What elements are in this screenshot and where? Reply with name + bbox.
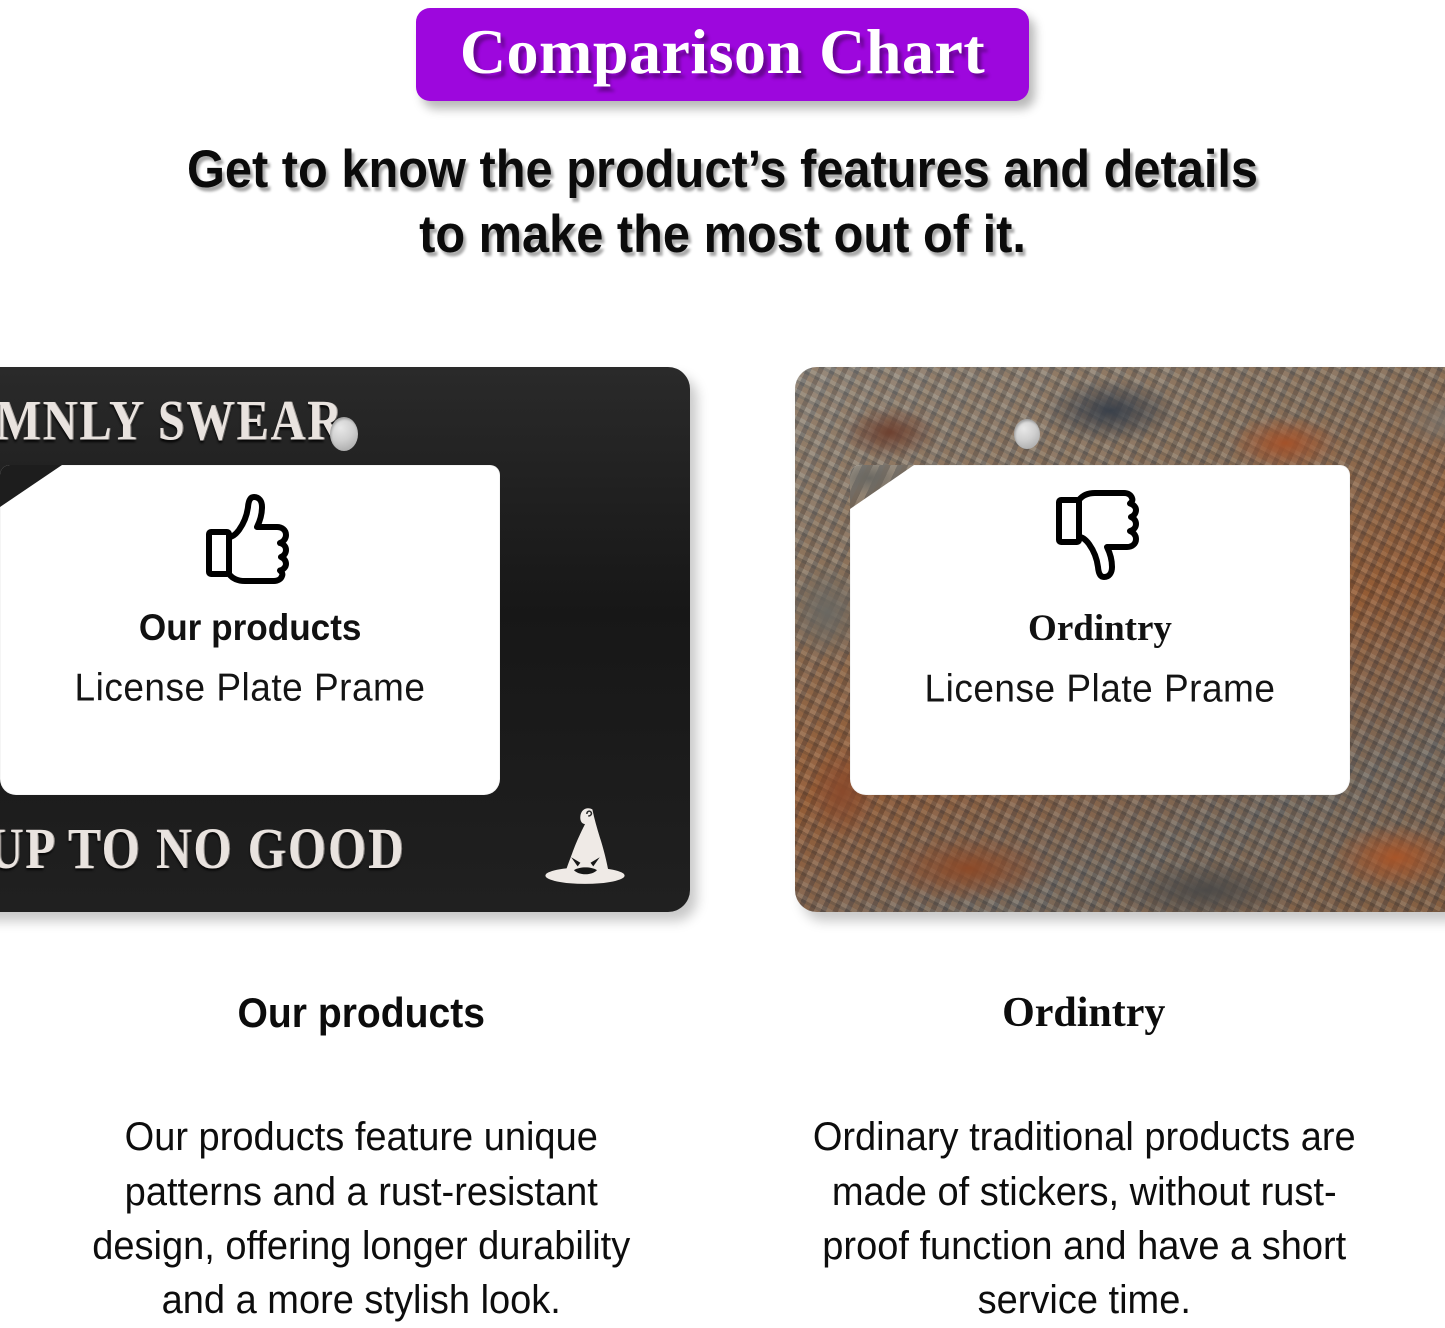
ordinary-product-plate-subtitle: License Plate Prame [925, 667, 1276, 712]
our-product-plate-title: Our products [139, 607, 362, 649]
thumbs-up-icon [198, 487, 302, 587]
banner-row: Comparison Chart [0, 8, 1445, 101]
comparison-chart-banner: Comparison Chart [416, 8, 1029, 101]
ordinary-product-column-body: Ordinary traditional products are made o… [784, 1110, 1383, 1328]
ordinary-product-plate-content: Ordintry License Plate Prame [850, 465, 1350, 795]
witch-hat-icon [538, 802, 632, 894]
our-product-column: Our products Our products feature unique… [0, 990, 723, 1314]
our-product-column-body: Our products feature unique patterns and… [62, 1110, 661, 1328]
our-product-plate-subtitle: License Plate Prame [75, 666, 426, 711]
ordinary-product-column-heading: Ordintry [769, 990, 1400, 1036]
thumbs-down-icon [1048, 487, 1152, 587]
ordinary-product-frame: Ordintry License Plate Prame [795, 367, 1445, 912]
page-subtitle: Get to know the product’s features and d… [58, 137, 1387, 267]
description-columns: Our products Our products feature unique… [0, 990, 1445, 1314]
our-product-column-heading: Our products [68, 990, 654, 1036]
our-product-plate-opening: Our products License Plate Prame [0, 465, 500, 795]
product-frames-row: OLEMNLY SWEAR. Our products License Plat… [0, 367, 1445, 915]
frame-top-text: OLEMNLY SWEAR. [0, 389, 350, 454]
ordinary-product-column: Ordintry Ordinary traditional products a… [723, 990, 1445, 1314]
ordinary-product-plate-opening: Ordintry License Plate Prame [850, 465, 1350, 795]
page-header: Comparison Chart Get to know the product… [0, 0, 1445, 268]
page-title: Comparison Chart [460, 18, 985, 85]
screw-hole-icon [1014, 419, 1040, 449]
screw-hole-icon [330, 417, 358, 451]
frame-bottom-text: AM UP TO NO GOOD [0, 815, 500, 882]
ordinary-product-plate-title: Ordintry [1028, 607, 1172, 650]
our-product-frame: OLEMNLY SWEAR. Our products License Plat… [0, 367, 690, 912]
our-product-plate-content: Our products License Plate Prame [0, 465, 500, 795]
